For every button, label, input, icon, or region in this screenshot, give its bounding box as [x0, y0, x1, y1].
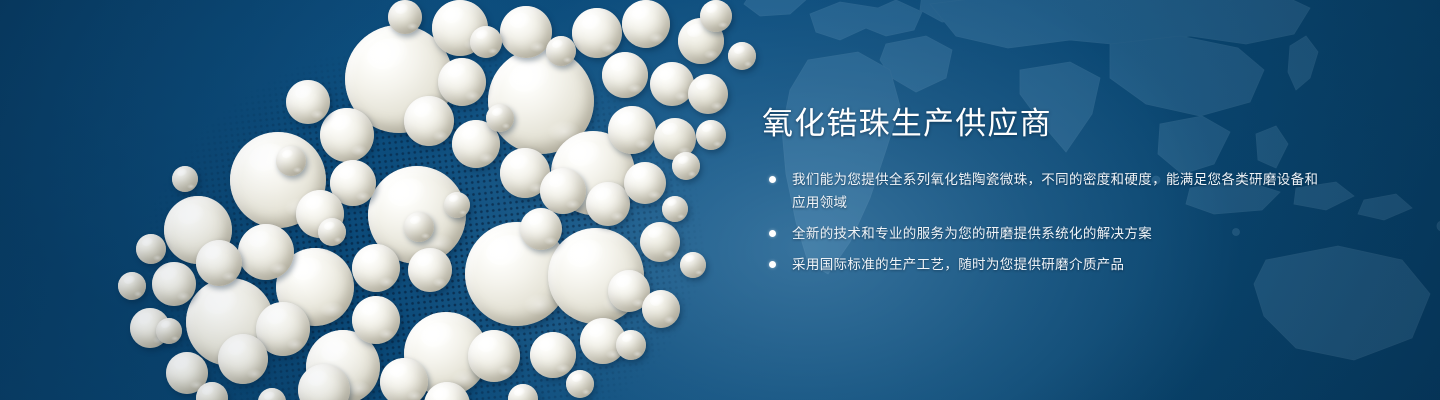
bullet-dot-icon: [769, 261, 776, 268]
list-item: 全新的技术和专业的服务为您的研磨提供系统化的解决方案: [762, 222, 1322, 245]
list-item: 我们能为您提供全系列氧化锆陶瓷微珠，不同的密度和硬度，能满足您各类研磨设备和应用…: [762, 168, 1322, 214]
feature-list: 我们能为您提供全系列氧化锆陶瓷微珠，不同的密度和硬度，能满足您各类研磨设备和应用…: [762, 168, 1322, 276]
list-item: 采用国际标准的生产工艺，随时为您提供研磨介质产品: [762, 253, 1322, 276]
banner-copy: 氧化锆珠生产供应商 我们能为您提供全系列氧化锆陶瓷微珠，不同的密度和硬度，能满足…: [762, 104, 1322, 276]
list-item-text: 全新的技术和专业的服务为您的研磨提供系统化的解决方案: [792, 226, 1152, 241]
bullet-dot-icon: [769, 230, 776, 237]
hero-banner: 氧化锆珠生产供应商 我们能为您提供全系列氧化锆陶瓷微珠，不同的密度和硬度，能满足…: [0, 0, 1440, 400]
bullet-dot-icon: [769, 176, 776, 183]
page-title: 氧化锆珠生产供应商: [762, 104, 1322, 144]
list-item-text: 采用国际标准的生产工艺，随时为您提供研磨介质产品: [792, 257, 1124, 272]
list-item-text: 我们能为您提供全系列氧化锆陶瓷微珠，不同的密度和硬度，能满足您各类研磨设备和应用…: [792, 172, 1318, 210]
